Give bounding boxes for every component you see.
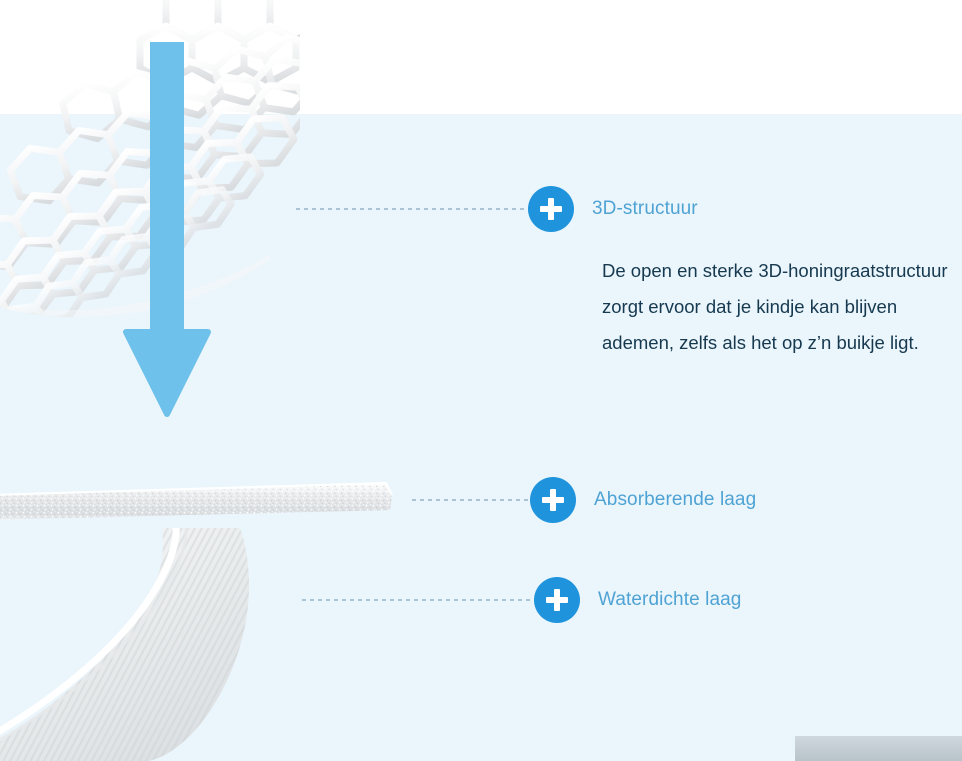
callout-description-3d-structuur: De open en sterke 3D-honingraatstructuur… [602,253,954,361]
plus-icon [540,198,562,220]
leader-dotted-line [302,599,534,601]
plus-icon-waterdichte-laag[interactable] [534,577,580,623]
callout-label-waterdichte-laag: Waterdichte laag [598,589,741,611]
product-layers-infographic: 3D-structuur De open en sterke 3D-honing… [0,0,962,761]
leader-dotted-line [412,499,530,501]
callout-3d-structuur[interactable]: 3D-structuur [296,186,698,232]
airflow-down-arrow [118,42,216,442]
plus-icon [542,489,564,511]
bottom-right-grey-block [795,736,962,761]
callout-absorberende-laag[interactable]: Absorberende laag [412,477,756,523]
callout-waterdichte-laag[interactable]: Waterdichte laag [302,577,741,623]
plus-icon-3d-structuur[interactable] [528,186,574,232]
leader-dotted-line [296,208,528,210]
plus-icon-absorberende-laag[interactable] [530,477,576,523]
callout-label-3d-structuur: 3D-structuur [592,198,698,220]
absorbent-layer-photo [0,476,398,524]
plus-icon [546,589,568,611]
callout-label-absorberende-laag: Absorberende laag [594,489,756,511]
waterproof-layer-photo [0,528,330,761]
